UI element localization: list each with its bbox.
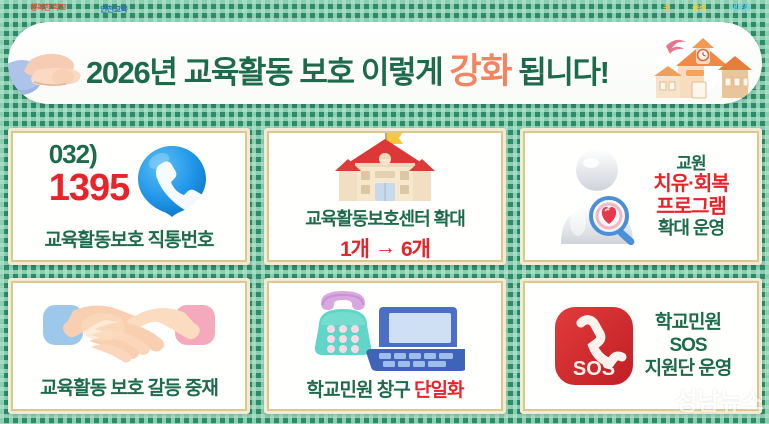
- card-grid: 032) 1395: [8, 128, 762, 414]
- card-conflict-mediation[interactable]: 교육활동 보호 갈등 중재: [8, 278, 250, 415]
- hotline-number: 1395: [49, 169, 130, 207]
- center-to-value: 6개: [401, 233, 430, 263]
- card-healing-program[interactable]: 교원 치유·회복 프로그램 확대 운영: [520, 128, 762, 265]
- logo-right-3: 새로움: [729, 2, 751, 13]
- healing-line-1: 교원: [676, 154, 705, 173]
- single-window-caption-highlight: 단일화: [414, 380, 463, 401]
- pointing-hand-icon: [8, 30, 96, 102]
- single-window-caption: 학교민원 창구 단일화: [307, 375, 464, 402]
- mediation-caption: 교육활동 보호 갈등 중재: [40, 373, 218, 400]
- sos-line-3: 지원단 운영: [645, 357, 732, 380]
- banner: 2026년 교육활동 보호 이렇게 강화 됩니다!: [8, 22, 762, 104]
- single-window-caption-prefix: 학교민원 창구: [307, 380, 414, 401]
- page-title: 2026년 교육활동 보호 이렇게 강화 됩니다!: [86, 43, 609, 94]
- page-title-highlight: 강화: [449, 52, 511, 91]
- healing-line-4: 확대 운영: [658, 218, 724, 238]
- hotline-area-code: 032): [49, 141, 97, 167]
- telephone-laptop-icon: [305, 289, 465, 373]
- sos-icon-label: SOS: [573, 358, 615, 380]
- logo-strip: 행복한 학교 인천교육 꿈 울림 새로움: [0, 0, 769, 22]
- healing-line-3: 프로그램: [656, 196, 726, 218]
- school-flag-icon: [333, 129, 437, 205]
- page-title-prefix: 2026년 교육활동 보호 이렇게: [86, 55, 449, 90]
- logo-left-1: 행복한 학교: [29, 2, 66, 13]
- logo-right-1: 꿈: [662, 3, 670, 14]
- center-from-value: 1개: [340, 233, 369, 263]
- person-heart-magnifier-icon: [553, 144, 649, 248]
- page-title-suffix: 됩니다!: [511, 55, 609, 90]
- logo-right-2: 울림: [691, 3, 706, 14]
- grid-line-h: [0, 110, 769, 111]
- school-building-icon: [652, 26, 756, 104]
- logo-left-2: 인천교육: [99, 4, 128, 15]
- handshake-icon: [39, 291, 219, 369]
- healing-line-2: 치유·회복: [653, 173, 728, 195]
- center-caption: 교육활동보호센터 확대: [305, 205, 465, 231]
- sos-line-2: SOS: [669, 334, 706, 357]
- card-single-window[interactable]: 학교민원 창구 단일화: [264, 278, 506, 415]
- card-hotline[interactable]: 032) 1395: [8, 128, 250, 265]
- card-protection-center[interactable]: 교육활동보호센터 확대 1개 → 6개: [264, 128, 506, 265]
- hotline-caption: 교육활동보호 직통번호: [44, 225, 213, 252]
- card-sos-support[interactable]: SOS 학교민원 SOS 지원단 운영: [520, 278, 762, 415]
- arrow-icon: →: [375, 236, 395, 260]
- sos-line-1: 학교민원: [655, 311, 721, 334]
- phone-bubble-icon: [135, 143, 209, 219]
- sos-phone-icon: SOS: [551, 303, 637, 389]
